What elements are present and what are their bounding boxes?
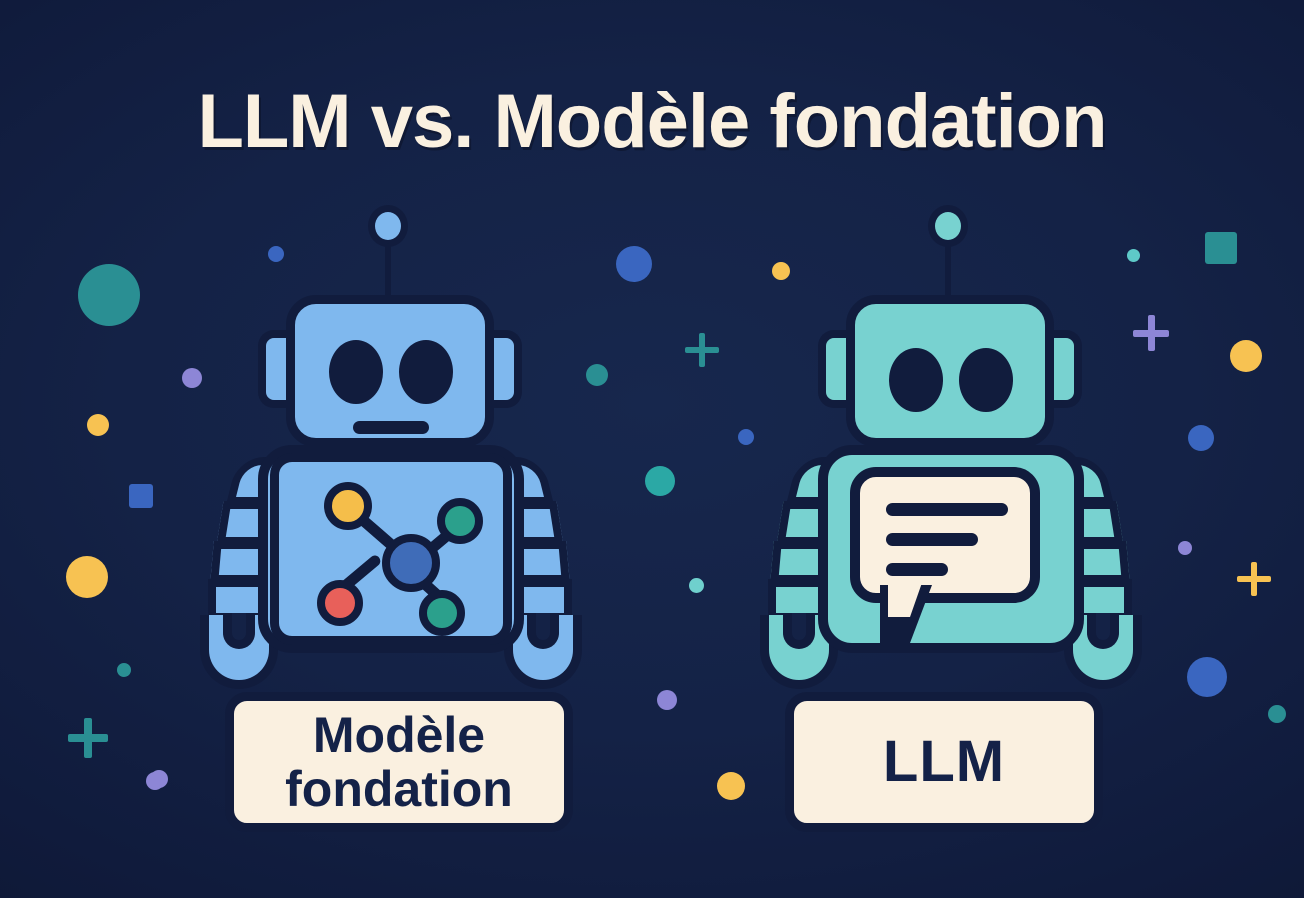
plus-bar-vertical	[84, 718, 92, 758]
chat-bubble-tail-fill	[888, 577, 924, 617]
label-card-llm[interactable]: LLM	[785, 692, 1103, 832]
chat-bubble-line	[886, 533, 978, 546]
graph-node-red	[317, 580, 363, 626]
robot-eye-left-icon	[889, 348, 943, 412]
deco-dot-purple-mid	[657, 690, 677, 710]
robot-head-left	[286, 295, 494, 447]
deco-dot-yellow-small	[87, 414, 109, 436]
antenna-stem-icon	[385, 243, 391, 301]
label-card-foundation-model[interactable]: Modèle fondation	[225, 692, 573, 832]
label-line: Modèle	[313, 708, 485, 762]
hand-notch	[223, 613, 255, 649]
robot-eye-right-icon	[399, 340, 453, 404]
deco-circle-yellow-right	[1230, 340, 1262, 372]
deco-plus-teal-mid	[685, 333, 719, 367]
deco-square-blue	[129, 484, 153, 508]
graph-node-teal-lower	[419, 590, 465, 636]
plus-bar-vertical	[1251, 562, 1257, 596]
graph-node-center	[382, 534, 440, 592]
robot-eye-left-icon	[329, 340, 383, 404]
deco-circle-teal-mid	[645, 466, 675, 496]
deco-circle-yellow	[66, 556, 108, 598]
antenna-stem-icon	[945, 243, 951, 301]
page-title: LLM vs. Modèle fondation	[0, 78, 1304, 165]
chat-bubble-line	[886, 563, 948, 576]
deco-circle-blue-right	[1188, 425, 1214, 451]
robot-foundation-model	[180, 205, 600, 675]
plus-bar-vertical	[699, 333, 705, 367]
antenna-ball-icon	[928, 205, 968, 247]
deco-dot-purple-right	[1178, 541, 1192, 555]
deco-plus-yellow-right	[1237, 562, 1271, 596]
deco-dot-teal-midlow	[689, 578, 704, 593]
deco-circle-yellow-mid	[717, 772, 745, 800]
deco-circle-blue-mid	[616, 246, 652, 282]
deco-dot-purple-lowleft	[146, 772, 164, 790]
deco-dot-teal-lowright	[1268, 705, 1286, 723]
deco-square-teal-right	[1205, 232, 1237, 264]
label-line: fondation	[285, 762, 513, 816]
network-graph-icon	[270, 453, 512, 645]
hand-notch	[1087, 613, 1119, 649]
deco-circle-blue-lower	[1187, 657, 1227, 697]
label-line: LLM	[883, 731, 1005, 794]
chat-bubble-icon	[850, 467, 1040, 603]
robot-mouth-icon	[353, 421, 429, 434]
deco-dot-teal-tiny	[117, 663, 131, 677]
robot-head-right	[846, 295, 1054, 447]
robot-eye-right-icon	[959, 348, 1013, 412]
hand-notch	[527, 613, 559, 649]
chat-bubble-line	[886, 503, 1008, 516]
graph-node-yellow	[324, 482, 372, 530]
graph-node-teal-upper	[437, 498, 483, 544]
deco-plus-teal-left	[68, 718, 108, 758]
hand-notch	[783, 613, 815, 649]
robot-llm	[740, 205, 1160, 675]
illustration-canvas: LLM vs. Modèle fondation	[0, 0, 1304, 898]
antenna-ball-icon	[368, 205, 408, 247]
deco-circle-teal-large	[78, 264, 140, 326]
